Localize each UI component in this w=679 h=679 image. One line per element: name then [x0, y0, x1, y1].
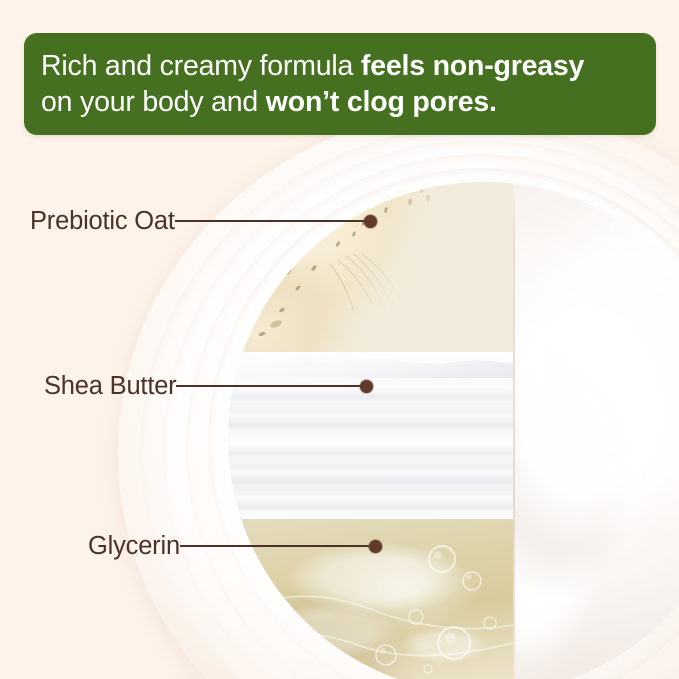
shea-ridge [228, 442, 513, 455]
headline-line-2-normal: on your body and [41, 86, 266, 118]
panel-divider [513, 182, 515, 679]
ingredient-column [228, 182, 513, 679]
whipped-cream-panel [513, 182, 679, 679]
shea-ridge [228, 470, 513, 483]
callout-leader-line [180, 545, 370, 547]
callout-leader-line [176, 385, 361, 387]
callout-dot [364, 215, 377, 228]
infographic-canvas: Rich and creamy formula feels non-greasy… [0, 0, 679, 679]
cream-swirl [513, 182, 679, 679]
shea-ridge [228, 496, 513, 509]
callout-dot [369, 540, 382, 553]
shea-ridge [228, 414, 513, 427]
headline-banner: Rich and creamy formula feels non-greasy… [24, 33, 656, 135]
callout-prebiotic-oat: Prebiotic Oat [30, 204, 377, 238]
callout-dot [360, 380, 373, 393]
headline-line-1-bold: feels non-greasy [361, 50, 584, 82]
callout-label-prebiotic-oat: Prebiotic Oat [30, 207, 175, 236]
headline-line-2: on your body and won’t clog pores. [41, 84, 639, 120]
jar-contents [228, 182, 679, 679]
headline-line-1: Rich and creamy formula feels non-greasy [41, 48, 639, 84]
callout-shea-butter: Shea Butter [44, 369, 373, 403]
callout-leader-line [175, 220, 365, 222]
headline-line-2-bold: won’t clog pores. [266, 86, 497, 118]
callout-label-shea-butter: Shea Butter [44, 372, 176, 401]
callout-glycerin: Glycerin [88, 529, 382, 563]
headline-line-1-normal: Rich and creamy formula [41, 50, 361, 82]
callout-label-glycerin: Glycerin [88, 532, 180, 561]
